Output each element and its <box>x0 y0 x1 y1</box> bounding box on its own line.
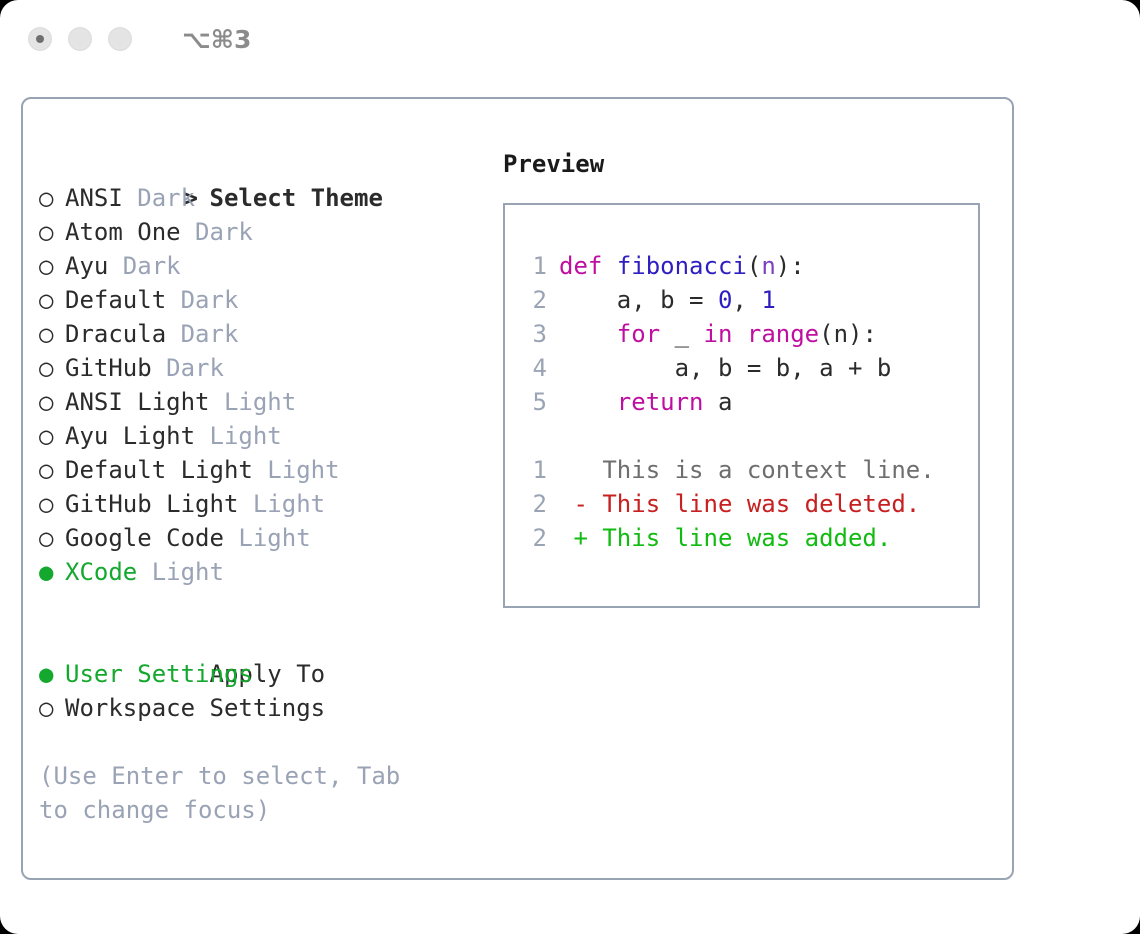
line-number: 2 <box>523 283 547 317</box>
select-theme-header-label: Select Theme <box>210 184 383 212</box>
theme-option-google-code[interactable]: ○Google Code Light <box>39 521 499 555</box>
preview-column: Preview 1def fibonacci(n):2 a, b = 0, 13… <box>503 147 1003 608</box>
code-token: n <box>761 252 775 280</box>
title-bar: ⌥⌘3 <box>0 0 1140 78</box>
theme-option-label: Dracula <box>65 320 181 348</box>
line-number: 5 <box>523 385 547 419</box>
code-token: , <box>732 286 761 314</box>
code-line: 3 for _ in range(n): <box>505 317 978 351</box>
diff-line-text: - This line was deleted. <box>559 490 920 518</box>
keyboard-hint-text: (Use Enter to select, Tab to change focu… <box>39 759 439 827</box>
theme-option-category: Light <box>267 456 339 484</box>
preview-box: 1def fibonacci(n):2 a, b = 0, 13 for _ i… <box>503 203 980 608</box>
theme-option-dracula[interactable]: ○Dracula Dark <box>39 317 499 351</box>
theme-option-category: Light <box>152 558 224 586</box>
radio-unselected-icon: ○ <box>39 215 65 249</box>
apply-to-title: Apply To <box>39 623 499 657</box>
code-token: 1 <box>761 286 775 314</box>
radio-unselected-icon: ○ <box>39 521 65 555</box>
window-dot-active[interactable] <box>28 27 52 51</box>
theme-option-category: Dark <box>195 218 253 246</box>
radio-unselected-icon: ○ <box>39 317 65 351</box>
diff-line-text: + This line was added. <box>559 524 891 552</box>
code-token <box>559 388 617 416</box>
theme-option-atom-one[interactable]: ○Atom One Dark <box>39 215 499 249</box>
radio-unselected-icon: ○ <box>39 487 65 521</box>
theme-option-category: Light <box>253 490 325 518</box>
code-token: (n): <box>819 320 877 348</box>
code-token <box>732 320 746 348</box>
theme-option-label: Ayu Light <box>65 422 210 450</box>
theme-option-category: Light <box>210 422 282 450</box>
window-dot-active-inner <box>36 35 44 43</box>
radio-selected-icon: ● <box>39 555 65 589</box>
radio-unselected-icon: ○ <box>39 351 65 385</box>
code-line: 1def fibonacci(n): <box>505 249 978 283</box>
theme-option-xcode[interactable]: ●XCode Light <box>39 555 499 589</box>
line-number: 2 <box>523 487 547 521</box>
radio-selected-icon: ● <box>39 657 65 691</box>
theme-option-label: Atom One <box>65 218 195 246</box>
window-dot-3[interactable] <box>108 27 132 51</box>
theme-option-label: XCode <box>65 558 152 586</box>
theme-option-ayu-light[interactable]: ○Ayu Light Light <box>39 419 499 453</box>
theme-option-ansi-light[interactable]: ○ANSI Light Light <box>39 385 499 419</box>
apply-to-option-workspace-settings[interactable]: ○Workspace Settings <box>39 691 499 725</box>
theme-option-category: Dark <box>166 354 224 382</box>
app-window: ⌥⌘3 >Select Theme ○ANSI Dark○Atom One Da… <box>0 0 1140 934</box>
theme-option-label: ANSI <box>65 184 137 212</box>
diff-line: 2 - This line was deleted. <box>505 487 978 521</box>
theme-option-label: Google Code <box>65 524 238 552</box>
radio-unselected-icon: ○ <box>39 385 65 419</box>
theme-list: ○ANSI Dark○Atom One Dark○Ayu Dark○Defaul… <box>39 181 499 589</box>
code-line: 4 a, b = b, a + b <box>505 351 978 385</box>
radio-unselected-icon: ○ <box>39 691 65 725</box>
code-token: range <box>747 320 819 348</box>
radio-unselected-icon: ○ <box>39 283 65 317</box>
select-theme-header: >Select Theme <box>39 147 499 181</box>
theme-option-label: Default Light <box>65 456 267 484</box>
code-token: ): <box>776 252 805 280</box>
window-dot-2[interactable] <box>68 27 92 51</box>
theme-selector-column: >Select Theme ○ANSI Dark○Atom One Dark○A… <box>39 147 499 827</box>
radio-unselected-icon: ○ <box>39 419 65 453</box>
line-number: 4 <box>523 351 547 385</box>
code-token <box>602 252 616 280</box>
radio-unselected-icon: ○ <box>39 453 65 487</box>
radio-unselected-icon: ○ <box>39 249 65 283</box>
theme-option-label: ANSI Light <box>65 388 224 416</box>
code-token <box>559 320 617 348</box>
theme-option-github[interactable]: ○GitHub Dark <box>39 351 499 385</box>
theme-option-label: Default <box>65 286 181 314</box>
code-token: for <box>617 320 660 348</box>
code-token: fibonacci <box>617 252 747 280</box>
theme-option-category: Dark <box>137 184 195 212</box>
diff-sample: 1 This is a context line.2 - This line w… <box>505 453 978 555</box>
diff-line: 2 + This line was added. <box>505 521 978 555</box>
code-line: 2 a, b = 0, 1 <box>505 283 978 317</box>
line-number: 1 <box>523 249 547 283</box>
theme-option-label: Ayu <box>65 252 123 280</box>
preview-title: Preview <box>503 147 1003 181</box>
line-number: 2 <box>523 521 547 555</box>
code-sample: 1def fibonacci(n):2 a, b = 0, 13 for _ i… <box>505 249 978 419</box>
code-line: 5 return a <box>505 385 978 419</box>
theme-option-category: Dark <box>181 286 239 314</box>
theme-option-category: Dark <box>123 252 181 280</box>
theme-option-ayu[interactable]: ○Ayu Dark <box>39 249 499 283</box>
code-token: in <box>704 320 733 348</box>
diff-line-text: This is a context line. <box>559 456 935 484</box>
code-token: a <box>704 388 733 416</box>
apply-to-option-label: Workspace Settings <box>65 694 325 722</box>
theme-option-label: GitHub <box>65 354 166 382</box>
theme-option-category: Dark <box>181 320 239 348</box>
code-token: 0 <box>718 286 732 314</box>
theme-option-label: GitHub Light <box>65 490 253 518</box>
code-diff-gap <box>505 419 978 453</box>
code-token: a, b = b, a + b <box>559 354 891 382</box>
theme-option-default-light[interactable]: ○Default Light Light <box>39 453 499 487</box>
code-token: _ <box>660 320 703 348</box>
theme-option-github-light[interactable]: ○GitHub Light Light <box>39 487 499 521</box>
diff-line: 1 This is a context line. <box>505 453 978 487</box>
code-token: a, b = <box>559 286 718 314</box>
theme-option-category: Light <box>238 524 310 552</box>
keyboard-shortcut-label: ⌥⌘3 <box>182 25 251 54</box>
panel-columns: >Select Theme ○ANSI Dark○Atom One Dark○A… <box>23 99 1012 878</box>
line-number: 3 <box>523 317 547 351</box>
radio-unselected-icon: ○ <box>39 181 65 215</box>
apply-to-option-label: User Settings <box>65 660 253 688</box>
code-token: def <box>559 252 602 280</box>
code-token: ( <box>747 252 761 280</box>
code-token: return <box>617 388 704 416</box>
theme-option-default[interactable]: ○Default Dark <box>39 283 499 317</box>
main-panel: >Select Theme ○ANSI Dark○Atom One Dark○A… <box>21 97 1014 880</box>
theme-option-category: Light <box>224 388 296 416</box>
section-gap <box>39 589 499 623</box>
line-number: 1 <box>523 453 547 487</box>
